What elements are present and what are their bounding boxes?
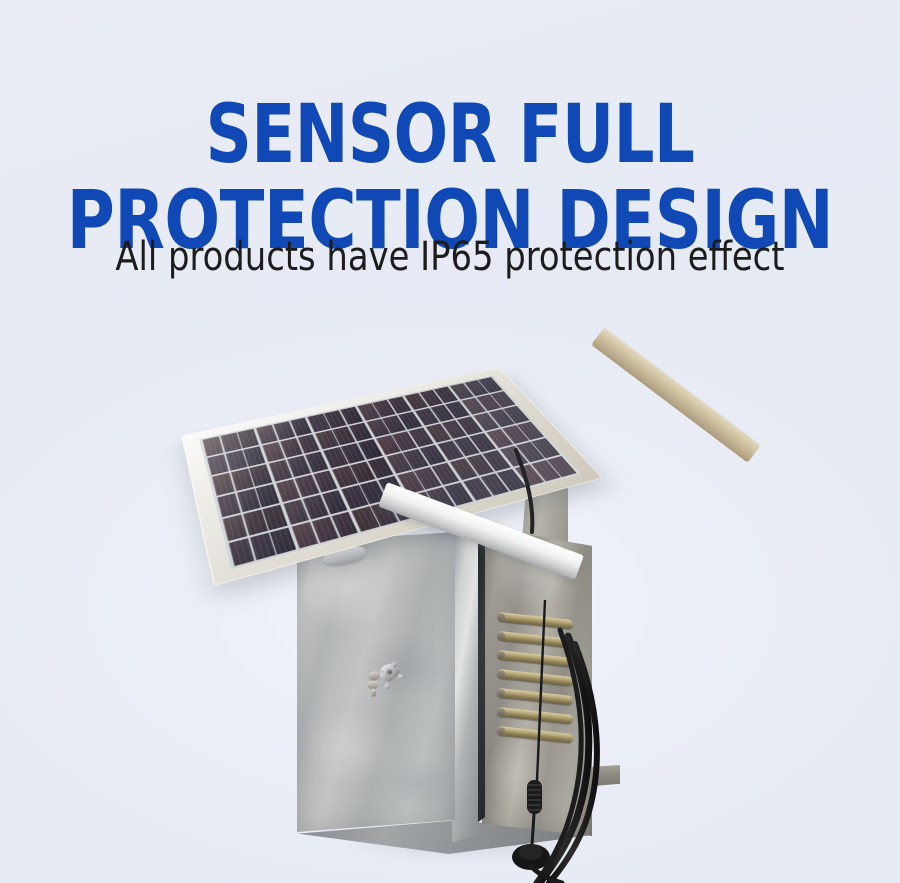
headline-line-1: SENSOR FULL [54,92,846,178]
louver-slat [497,688,574,705]
solar-panel-assembly [180,312,640,612]
key-lock-icon [362,658,408,698]
louver-slat [497,707,574,724]
subtitle-text: All products have IP65 protection effect [115,234,784,280]
solar-cell [276,470,338,502]
solar-cell [217,484,280,518]
solar-cell [284,490,348,524]
product-photo [0,300,900,883]
product-banner: SENSOR FULL PROTECTION DESIGN All produc… [0,0,900,883]
louver-slat [497,631,574,648]
louver-slat [497,650,574,667]
louver-slat [497,669,574,686]
louver-vent-group [497,616,575,738]
page-subtitle: All products have IP65 protection effect [0,234,900,280]
solar-cell [223,505,288,541]
